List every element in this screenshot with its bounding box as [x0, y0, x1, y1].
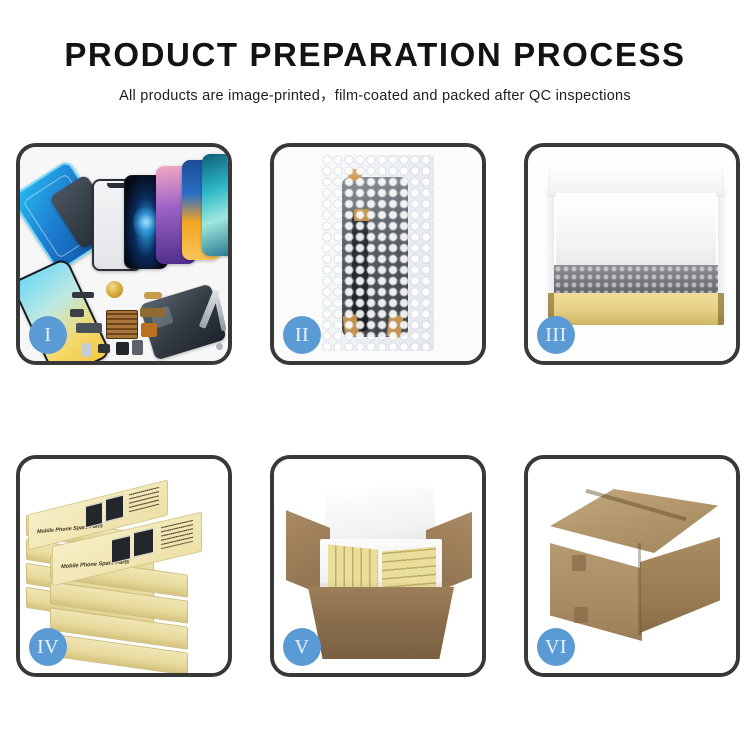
process-steps-grid: I II — [16, 143, 740, 677]
screw-part-a — [216, 343, 223, 350]
step-badge-3: III — [537, 316, 575, 354]
sim-tray-part — [82, 343, 91, 357]
step-badge-1: I — [29, 316, 67, 354]
box-print-screen-front-b — [133, 528, 154, 558]
step-panel-3[interactable]: III — [524, 143, 740, 365]
earpiece-speaker-part — [72, 292, 94, 298]
flex-cable-part-b — [140, 308, 166, 317]
screw-part-b — [226, 351, 228, 357]
inner-box-white-foam — [556, 193, 716, 267]
carton-vertical-edge — [638, 543, 641, 635]
box-print-screen-back-a — [85, 502, 103, 528]
step-badge-4: IV — [29, 628, 67, 666]
step-panel-1[interactable]: I — [16, 143, 232, 365]
step-panel-4[interactable]: Mobile Phone Spare Parts Mobile Phone Sp… — [16, 455, 232, 677]
camera-module-part — [98, 344, 110, 353]
phone-display-teal — [202, 154, 228, 256]
carton-tape-patch-upper — [572, 555, 586, 571]
carton-front-wall — [308, 587, 454, 659]
flex-cable-part-d — [141, 323, 157, 337]
step-badge-5: V — [283, 628, 321, 666]
box-print-screen-back-b — [105, 495, 124, 523]
bubble-texture — [322, 155, 434, 351]
step-panel-5[interactable]: V — [270, 455, 486, 677]
vibration-motor-part — [106, 281, 123, 298]
screw-tray-part — [106, 310, 138, 339]
inner-box-yellow-front — [548, 293, 724, 325]
inner-box-grey-padding — [554, 265, 718, 295]
bubble-wrap-sleeve — [322, 155, 434, 351]
carton-tape-patch-lower — [574, 607, 588, 623]
flex-cable-part-c — [76, 323, 102, 333]
inner-box-corner-right — [718, 293, 724, 325]
box-print-screen-front-a — [111, 535, 131, 564]
step-panel-6[interactable]: VI — [524, 455, 740, 677]
box-print-spec-lines-front — [161, 520, 193, 549]
inner-box-lid — [548, 163, 724, 197]
box-print-spec-lines-back — [129, 487, 159, 515]
step-badge-2: II — [283, 316, 321, 354]
page-header: PRODUCT PREPARATION PROCESS All products… — [0, 0, 750, 105]
loudspeaker-part — [116, 342, 129, 355]
page-subtitle: All products are image-printed，film-coat… — [0, 84, 750, 105]
connector-part — [132, 340, 143, 355]
step-panel-2[interactable]: II — [270, 143, 486, 365]
step-badge-6: VI — [537, 628, 575, 666]
antenna-part — [70, 309, 84, 317]
page-title: PRODUCT PREPARATION PROCESS — [0, 38, 750, 73]
flex-cable-part-a — [144, 292, 162, 299]
